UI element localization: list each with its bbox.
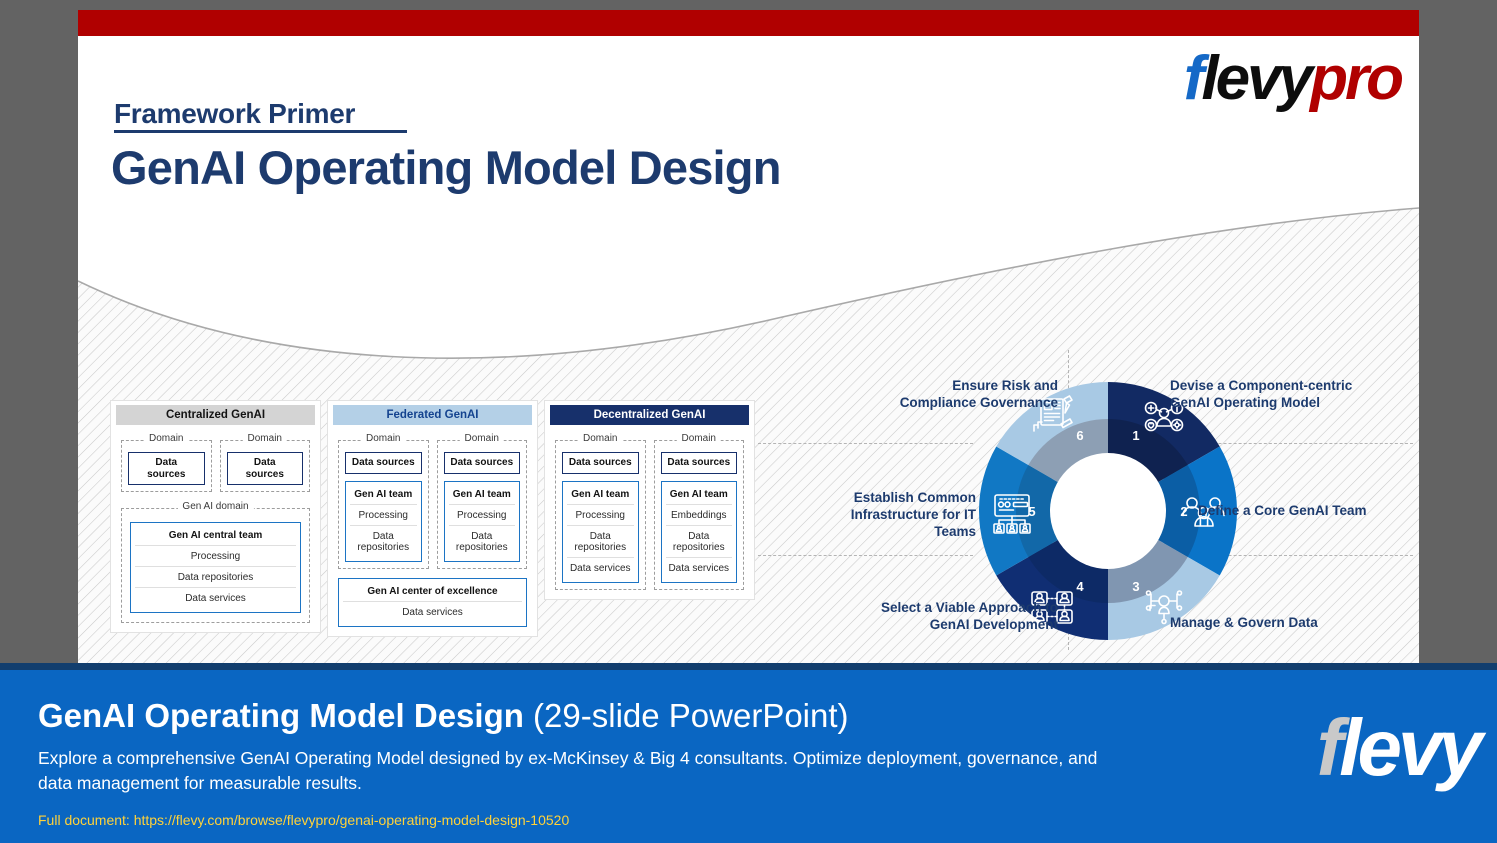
domain-block: Domain Data sources Gen AI team Processi… [338,440,429,569]
top-red-bar [78,10,1419,36]
card-header-federated: Federated GenAI [333,405,532,425]
promo-banner: GenAI Operating Model Design (29-slide P… [0,663,1497,843]
domain-block: Domain Data sources Gen AI team Processi… [555,440,646,590]
operating-model-wheel: 1 2 3 4 5 6 Ensure Risk and Compliance G… [758,350,1418,650]
central-team-box: Gen AI central team Processing Data repo… [130,522,301,613]
data-sources-box: Data sources [562,452,639,474]
wheel-label-bottom-left: Select a Viable Approach to GenAI Develo… [748,600,1058,634]
team-box: Gen AI team Embeddings Data repositories… [661,481,738,583]
wheel-label-right: Define a Core GenAI Team [1198,503,1419,520]
banner-title-light: (29-slide PowerPoint) [524,697,849,734]
banner-link[interactable]: Full document: https://flevy.com/browse/… [38,812,569,828]
team-item: Data repositories [350,525,417,557]
team-title: Gen AI team [666,486,733,504]
team-item: Processing [567,504,634,525]
data-sources-box: Datasources [128,452,205,485]
genai-domain-block: Gen AI domain Gen AI central team Proces… [121,508,310,623]
segment-number-3: 3 [1132,579,1139,594]
data-sources-box: Datasources [227,452,304,485]
top-bar-separator [78,36,1419,38]
flevy-logo: flevy [1317,708,1479,788]
kicker-text: Framework Primer [114,98,355,130]
kicker-underline [114,130,407,133]
flevypro-logo-pro: pro [1310,44,1401,113]
domain-label: Domain [361,433,405,444]
domain-block: Domain Data sources Gen AI team Embeddin… [654,440,745,590]
domain-row: Domain Data sources Gen AI team Processi… [555,433,744,590]
domain-label: Domain [144,433,188,444]
flevypro-logo: flevypro [1184,48,1401,110]
card-header-decentralized: Decentralized GenAI [550,405,749,425]
banner-title-bold: GenAI Operating Model Design [38,697,524,734]
domain-label: Domain [677,433,721,444]
coe-item: Data services [343,601,522,622]
segment-number-5: 5 [1028,504,1035,519]
wheel-label-left: Establish Common Infrastructure for IT T… [758,490,976,541]
team-item: Data repositories [666,525,733,557]
team-item: Processing [350,504,417,525]
flevy-logo-f: f [1317,703,1340,792]
team-box: Gen AI team Processing Data repositories [444,481,521,562]
banner-description: Explore a comprehensive GenAI Operating … [38,746,1128,797]
card-body-centralized: Domain Datasources Domain Datasources Ge… [116,425,315,625]
genai-domain-label: Gen AI domain [177,501,253,512]
team-item: Data repositories [449,525,516,557]
architecture-card-federated: Federated GenAI Domain Data sources Gen … [327,400,538,637]
team-title: Gen AI team [567,486,634,504]
team-box: Gen AI team Processing Data repositories [345,481,422,562]
team-item: Processing [449,504,516,525]
wheel-divider-left-upper [758,443,973,444]
team-item: Processing [135,545,296,566]
flevypro-logo-f: f [1184,44,1202,113]
screenshot-root: Framework Primer GenAI Operating Model D… [0,0,1497,843]
domain-block: Domain Data sources Gen AI team Processi… [437,440,528,569]
segment-number-2: 2 [1180,504,1187,519]
team-item: Data services [135,587,296,608]
domain-label: Domain [578,433,622,444]
wheel-divider-left-lower [758,555,973,556]
data-sources-box: Data sources [661,452,738,474]
segment-number-6: 6 [1076,428,1083,443]
wheel-label-top-left: Ensure Risk and Compliance Governance [758,378,1058,412]
domain-block: Domain Datasources [220,440,311,492]
wheel-label-top-right: Devise a Component-centric GenAI Operati… [1170,378,1419,412]
slide-canvas: Framework Primer GenAI Operating Model D… [78,10,1419,663]
team-item: Data services [567,557,634,578]
architecture-card-decentralized: Decentralized GenAI Domain Data sources … [544,400,755,600]
team-title: Gen AI team [350,486,417,504]
domain-row: Domain Data sources Gen AI team Processi… [338,433,527,569]
coe-title: Gen AI center of excellence [343,583,522,601]
banner-title: GenAI Operating Model Design (29-slide P… [38,697,849,735]
segment-number-4: 4 [1076,579,1084,594]
segment-number-1: 1 [1132,428,1139,443]
card-body-decentralized: Domain Data sources Gen AI team Processi… [550,425,749,592]
domain-row: Domain Datasources Domain Datasources [121,433,310,492]
wheel-label-bottom-right: Manage & Govern Data [1170,615,1419,632]
flevy-logo-levy: levy [1339,703,1479,792]
domain-block: Domain Datasources [121,440,212,492]
page-title: GenAI Operating Model Design [111,140,781,195]
team-box: Gen AI team Processing Data repositories… [562,481,639,583]
center-of-excellence-box: Gen AI center of excellence Data service… [338,578,527,627]
flevypro-logo-levy: levy [1201,44,1310,113]
data-sources-box: Data sources [444,452,521,474]
central-team-title: Gen AI central team [135,527,296,545]
team-item: Data repositories [567,525,634,557]
team-item: Embeddings [666,504,733,525]
card-body-federated: Domain Data sources Gen AI team Processi… [333,425,532,629]
data-sources-box: Data sources [345,452,422,474]
team-item: Data repositories [135,566,296,587]
team-title: Gen AI team [449,486,516,504]
donut-hole [1050,453,1166,569]
architecture-card-centralized: Centralized GenAI Domain Datasources Dom… [110,400,321,633]
domain-label: Domain [243,433,287,444]
domain-label: Domain [460,433,504,444]
team-item: Data services [666,557,733,578]
card-header-centralized: Centralized GenAI [116,405,315,425]
